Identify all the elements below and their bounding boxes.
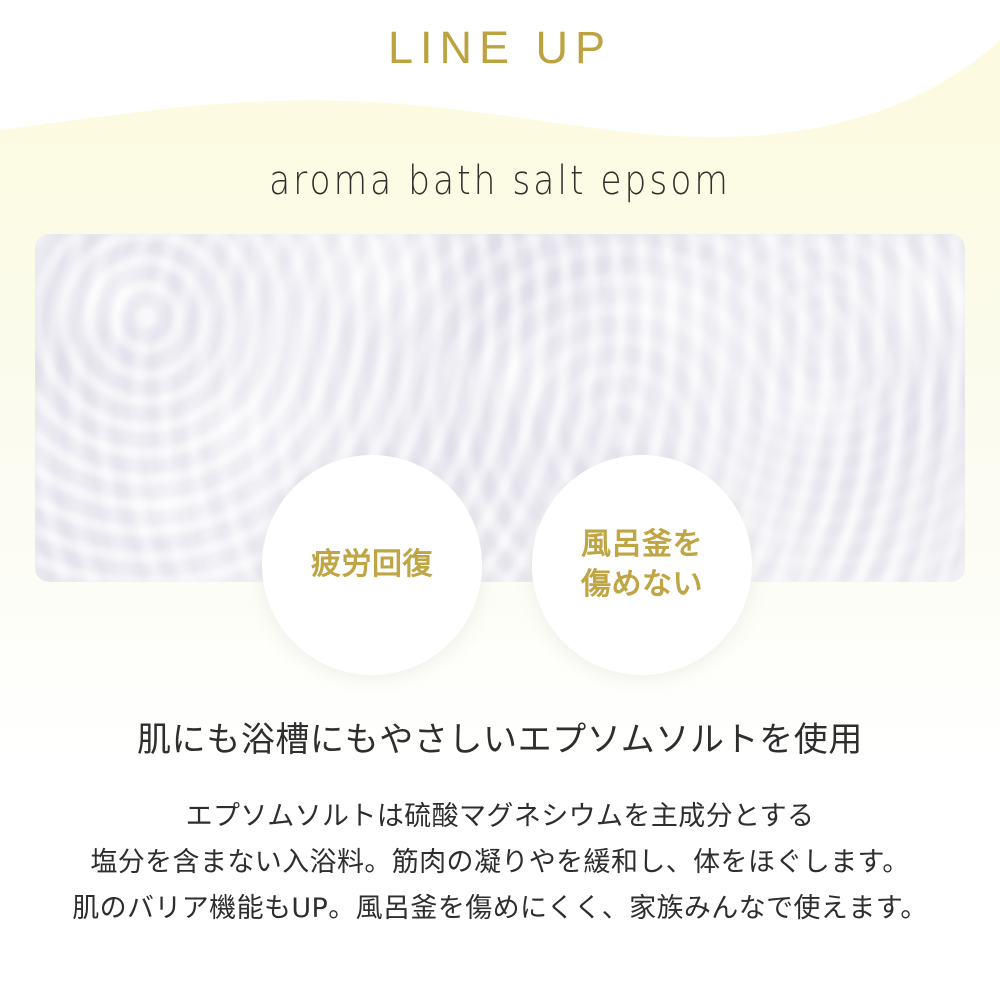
description-line: 肌のバリア機能もUP。風呂釜を傷めにくく、家族みんなで使えます。 [0,886,1000,932]
section-label-lineup: LINE UP [0,20,1000,76]
feature-badge-fatigue-recovery: 疲労回復 [262,455,482,675]
epsom-salt-photo [35,234,965,582]
salt-sheen-overlay [35,234,965,582]
description-heading: 肌にも浴槽にもやさしいエプソムソルトを使用 [0,716,1000,764]
description-line: 塩分を含まない入浴料。筋肉の凝りやを緩和し、体をほぐします。 [0,840,1000,886]
description-body: エプソムソルトは硫酸マグネシウムを主成分とする 塩分を含まない入浴料。筋肉の凝り… [0,794,1000,932]
feature-badge-label: 疲労回復 [311,545,433,585]
lineup-promo-page: LINE UP aroma bath salt epsom 疲労回復 風呂釜を … [0,0,1000,1000]
description-line: エプソムソルトは硫酸マグネシウムを主成分とする [0,794,1000,840]
description-block: 肌にも浴槽にもやさしいエプソムソルトを使用 エプソムソルトは硫酸マグネシウムを主… [0,716,1000,932]
feature-badge-label: 風呂釜を 傷めない [581,525,703,604]
feature-badge-bathtub-safe: 風呂釜を 傷めない [532,455,752,675]
product-name: aroma bath salt epsom [70,156,930,206]
